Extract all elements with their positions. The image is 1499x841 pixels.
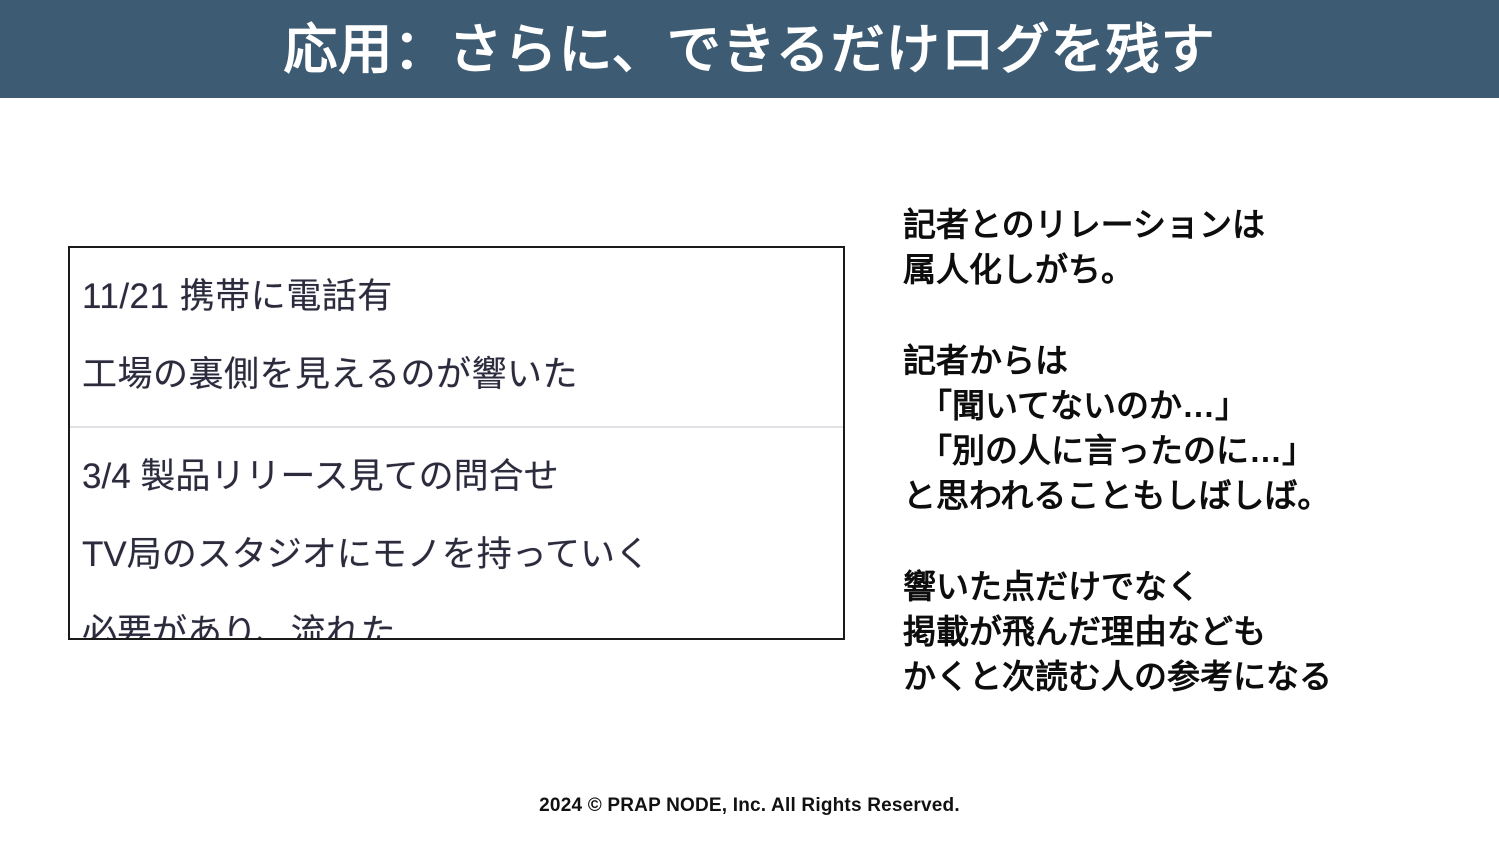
note-line: と思われることもしばしば。 bbox=[903, 473, 1463, 518]
note-line: 属人化しがち。 bbox=[903, 247, 1463, 292]
slide-header-band: 応用：さらに、できるだけログを残す bbox=[0, 0, 1499, 98]
note-block: 響いた点だけでなく 掲載が飛んだ理由なども かくと次読む人の参考になる bbox=[903, 564, 1463, 699]
note-line-quote: 「聞いてないのか…」 bbox=[903, 383, 1463, 428]
note-line: 記者からは bbox=[903, 338, 1463, 383]
page-title: 応用：さらに、できるだけログを残す bbox=[283, 23, 1215, 77]
note-block: 記者からは 「聞いてないのか…」 「別の人に言ったのに…」 と思われることもしば… bbox=[903, 338, 1463, 518]
log-entry: 3/4 製品リリース見ての問合せ TV局のスタジオにモノを持っていく 必要があり… bbox=[70, 426, 843, 640]
note-line-quote: 「別の人に言ったのに…」 bbox=[903, 428, 1463, 473]
notes-column: 記者とのリレーションは 属人化しがち。 記者からは 「聞いてないのか…」 「別の… bbox=[903, 202, 1463, 699]
slide-footer: 2024 © PRAP NODE, Inc. All Rights Reserv… bbox=[0, 795, 1499, 817]
note-block: 記者とのリレーションは 属人化しがち。 bbox=[903, 202, 1463, 292]
log-line: 3/4 製品リリース見ての問合せ bbox=[82, 438, 843, 516]
log-entry: 11/21 携帯に電話有 工場の裏側を見えるのが響いた bbox=[70, 248, 843, 426]
copyright-text: 2024 © PRAP NODE, Inc. All Rights Reserv… bbox=[539, 795, 960, 817]
log-example-card-inner: 11/21 携帯に電話有 工場の裏側を見えるのが響いた 3/4 製品リリース見て… bbox=[70, 248, 843, 638]
note-line: 掲載が飛んだ理由なども bbox=[903, 609, 1463, 654]
log-line: 11/21 携帯に電話有 bbox=[82, 258, 843, 336]
log-example-card: 11/21 携帯に電話有 工場の裏側を見えるのが響いた 3/4 製品リリース見て… bbox=[68, 246, 845, 640]
note-line: 響いた点だけでなく bbox=[903, 564, 1463, 609]
note-line: 記者とのリレーションは bbox=[903, 202, 1463, 247]
log-line: 必要があり、流れた bbox=[82, 594, 843, 640]
note-line: かくと次読む人の参考になる bbox=[903, 654, 1463, 699]
log-line: TV局のスタジオにモノを持っていく bbox=[82, 516, 843, 594]
slide-body: 11/21 携帯に電話有 工場の裏側を見えるのが響いた 3/4 製品リリース見て… bbox=[0, 98, 1499, 841]
log-line: 工場の裏側を見えるのが響いた bbox=[82, 336, 843, 414]
